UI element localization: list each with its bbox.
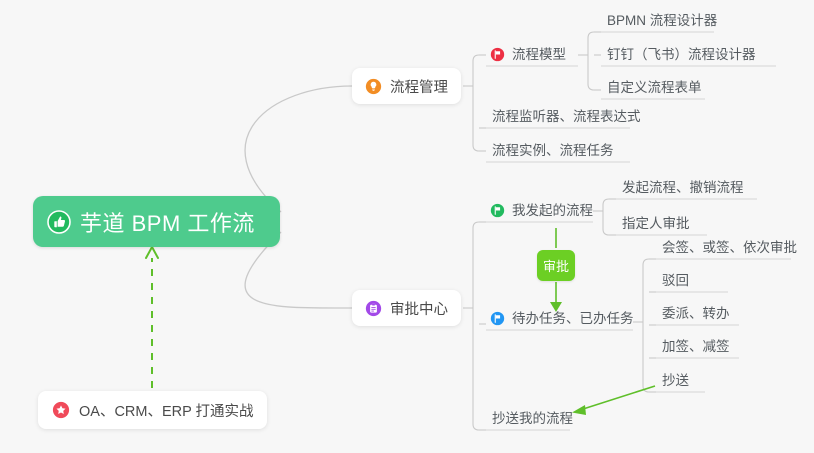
branch-node-approval-center[interactable]: 审批中心 (352, 290, 461, 326)
group-node-my-initiated-processes[interactable]: 我发起的流程 (486, 200, 599, 224)
leaf-assignee-approval[interactable]: 指定人审批 (616, 213, 696, 237)
branch-label-approval-center: 审批中心 (390, 298, 448, 319)
leaf-label: 指定人审批 (622, 216, 690, 231)
leaf-label: 钉钉（飞书）流程设计器 (607, 47, 756, 62)
callout-label: 审批 (543, 256, 569, 275)
flag-icon (490, 311, 505, 333)
leaf-label: 流程实例、流程任务 (492, 143, 614, 158)
leaf-label: 抄送我的流程 (492, 411, 573, 426)
thumbs-up-icon (47, 210, 71, 234)
leaf-label: 流程监听器、流程表达式 (492, 109, 641, 124)
star-icon (52, 401, 70, 419)
leaf-label: 加签、减签 (662, 339, 730, 354)
flag-icon (490, 203, 505, 225)
leaf-process-listener-expression[interactable]: 流程监听器、流程表达式 (486, 106, 647, 130)
clipboard-icon (365, 300, 382, 317)
group-label-process-model: 流程模型 (512, 47, 566, 62)
root-label: 芋道 BPM 工作流 (80, 206, 255, 238)
group-node-process-model[interactable]: 流程模型 (486, 44, 572, 68)
group-node-todo-done-tasks[interactable]: 待办任务、已办任务 (486, 308, 640, 332)
branch-label-process-management: 流程管理 (390, 76, 448, 97)
leaf-countersign-orsign-sequential[interactable]: 会签、或签、依次审批 (656, 237, 803, 261)
leaf-carbon-copy[interactable]: 抄送 (656, 370, 695, 394)
root-node[interactable]: 芋道 BPM 工作流 (33, 196, 280, 247)
leaf-delegate-transfer[interactable]: 委派、转办 (656, 303, 736, 327)
note-label: OA、CRM、ERP 打通实战 (79, 400, 254, 421)
mindmap-canvas: 芋道 BPM 工作流 流程管理 审批中心 (0, 0, 814, 453)
lightbulb-icon (365, 78, 382, 95)
leaf-label: 驳回 (662, 273, 689, 288)
group-label-todo-done-tasks: 待办任务、已办任务 (512, 311, 634, 326)
leaf-label: 会签、或签、依次审批 (662, 240, 797, 255)
leaf-start-cancel-process[interactable]: 发起流程、撤销流程 (616, 177, 750, 201)
leaf-label: BPMN 流程设计器 (607, 13, 717, 28)
leaf-label: 抄送 (662, 373, 689, 388)
leaf-process-instance-task[interactable]: 流程实例、流程任务 (486, 140, 620, 164)
leaf-label: 自定义流程表单 (607, 80, 702, 95)
flag-icon (490, 47, 505, 69)
leaf-dingtalk-feishu-designer[interactable]: 钉钉（飞书）流程设计器 (601, 44, 762, 68)
leaf-reject[interactable]: 驳回 (656, 270, 695, 294)
callout-approval: 审批 (537, 250, 575, 281)
leaf-cc-to-me-processes[interactable]: 抄送我的流程 (486, 408, 579, 432)
leaf-label: 委派、转办 (662, 306, 730, 321)
leaf-label: 发起流程、撤销流程 (622, 180, 744, 195)
leaf-bpmn-designer[interactable]: BPMN 流程设计器 (601, 10, 723, 34)
group-label-my-initiated-processes: 我发起的流程 (512, 203, 593, 218)
branch-node-process-management[interactable]: 流程管理 (352, 68, 461, 104)
leaf-add-remove-sign[interactable]: 加签、减签 (656, 336, 736, 360)
note-node-integration[interactable]: OA、CRM、ERP 打通实战 (38, 391, 267, 429)
leaf-custom-process-form[interactable]: 自定义流程表单 (601, 77, 708, 101)
